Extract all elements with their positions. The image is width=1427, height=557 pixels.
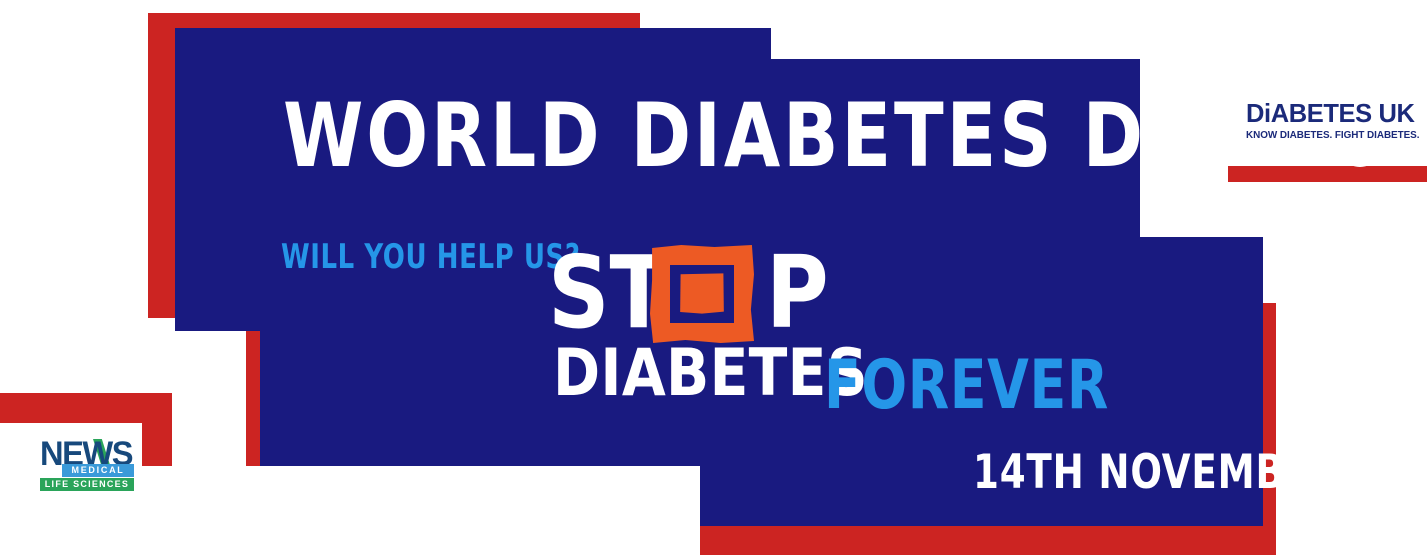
orange-brush-square-o-icon <box>650 245 754 343</box>
red-accent-left-vertical <box>148 13 176 318</box>
diabetes-uk-tagline: KNOW DIABETES. FIGHT DIABETES. <box>1246 131 1416 141</box>
event-date: 14TH NOVEMBER <box>973 449 1340 496</box>
diabetes-uk-logo: DiABETES UK KNOW DIABETES. FIGHT DIABETE… <box>1246 100 1418 141</box>
stop-letter-p: P <box>766 243 829 343</box>
news-medical-blue-bar: MEDICAL <box>62 464 134 477</box>
news-medical-medical-word: MEDICAL <box>62 466 134 475</box>
stop-diabetes-word: DIABETES <box>553 341 868 406</box>
stop-word-row: ST P <box>548 243 823 345</box>
forever-text: FOREVER <box>824 352 1109 420</box>
news-medical-life-sciences-word: LIFE SCIENCES <box>40 480 134 489</box>
diabetes-uk-wordmark: DiABETES UK <box>1246 100 1415 126</box>
brush-square-center-fill <box>680 273 724 313</box>
call-to-action-question: WILL YOU HELP US? <box>281 240 581 274</box>
news-medical-green-bar: LIFE SCIENCES <box>40 478 134 491</box>
world-diabetes-day-banner: WORLD DIABETES DAY 2023 WILL YOU HELP US… <box>0 0 1427 557</box>
stop-diabetes-logo: ST P DIABETES <box>548 243 823 418</box>
news-medical-logo: NEWS MEDICAL LIFE SCIENCES <box>36 437 136 492</box>
